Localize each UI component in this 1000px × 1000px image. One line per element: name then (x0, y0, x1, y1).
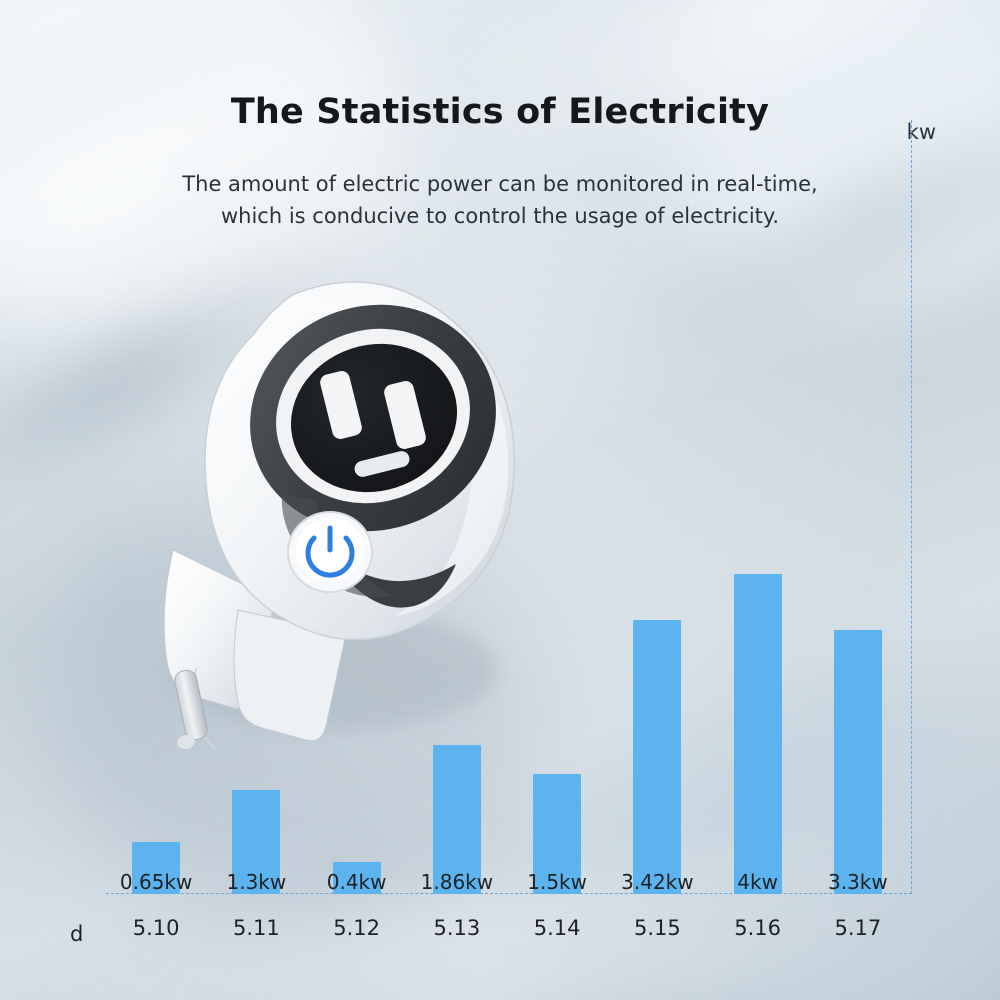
electricity-bar-chart: kw d 0.65kw 1.3kw 0.4kw 1.86kw (60, 520, 960, 950)
bar-column: 0.65kw (106, 520, 206, 894)
page-subtitle: The amount of electric power can be moni… (0, 168, 1000, 232)
bar-column: 1.86kw (407, 520, 507, 894)
y-axis-line (911, 120, 912, 894)
bar-value-label: 1.5kw (527, 870, 587, 894)
bar-column: 4kw (708, 520, 808, 894)
page-title: The Statistics of Electricity (0, 92, 1000, 132)
bar-column: 3.42kw (607, 520, 707, 894)
bar-value-label: 3.42kw (621, 870, 693, 894)
bar-value-label: 1.3kw (227, 870, 287, 894)
bar-value-label: 0.4kw (327, 870, 387, 894)
x-axis-tick: 5.16 (708, 916, 808, 940)
bar-column: 0.4kw (307, 520, 407, 894)
chart-plot-area: 0.65kw 1.3kw 0.4kw 1.86kw 1.5kw (106, 520, 908, 894)
x-axis-tick: 5.15 (607, 916, 707, 940)
bar-value-label: 4kw (737, 870, 778, 894)
x-axis-labels: 5.10 5.11 5.12 5.13 5.14 5.15 5.16 5.17 (106, 916, 908, 940)
x-axis-unit-label: d (70, 922, 83, 946)
bar[interactable] (834, 630, 882, 894)
x-axis-tick: 5.13 (407, 916, 507, 940)
bar-series: 0.65kw 1.3kw 0.4kw 1.86kw 1.5kw (106, 520, 908, 894)
bar-value-label: 0.65kw (120, 870, 192, 894)
product-infographic: The Statistics of Electricity The amount… (0, 0, 1000, 1000)
bar-column: 3.3kw (808, 520, 908, 894)
x-axis-tick: 5.14 (507, 916, 607, 940)
bar-value-label: 3.3kw (828, 870, 888, 894)
x-axis-tick: 5.10 (106, 916, 206, 940)
bar-column: 1.5kw (507, 520, 607, 894)
x-axis-tick: 5.17 (808, 916, 908, 940)
bar[interactable] (633, 620, 681, 894)
x-axis-tick: 5.11 (206, 916, 306, 940)
x-axis-tick: 5.12 (307, 916, 407, 940)
bar-value-label: 1.86kw (421, 870, 493, 894)
page-subtitle-line-2: which is conducive to control the usage … (0, 200, 1000, 232)
bar[interactable] (734, 574, 782, 894)
bar-column: 1.3kw (206, 520, 306, 894)
page-subtitle-line-1: The amount of electric power can be moni… (0, 168, 1000, 200)
